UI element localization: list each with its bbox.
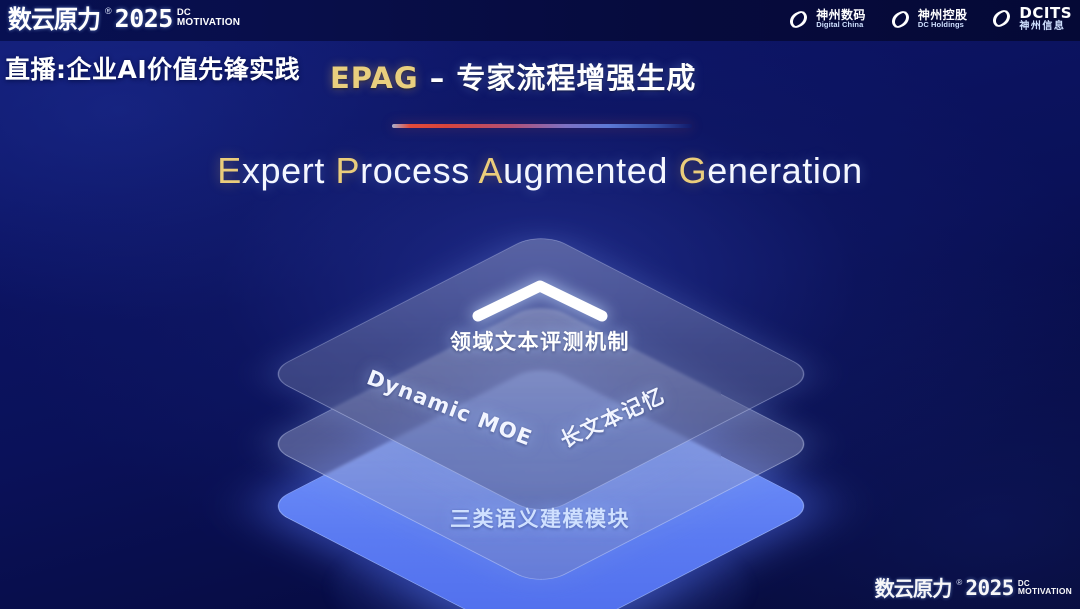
partner-logo-dc-holdings: 神州控股 DC Holdings: [888, 7, 968, 32]
subtitle-word-augmented: ugmented: [503, 150, 668, 191]
subtitle-word-generation: eneration: [707, 150, 863, 191]
subtitle-cap-p: P: [336, 150, 361, 191]
partner-logo-group: 神州数码 Digital China 神州控股 DC Holdings: [786, 4, 1072, 34]
page-title-separator: –: [419, 61, 457, 95]
brand-logo-dc-motivation: DC MOTIVATION: [177, 9, 240, 27]
subtitle-space-3: [668, 150, 679, 191]
subtitle-cap-e: E: [217, 150, 242, 191]
watermark-motivation: MOTIVATION: [1018, 588, 1072, 596]
page-title: EPAG – 专家流程增强生成: [330, 55, 696, 97]
slide-canvas: 数云原力® 2025 DC MOTIVATION 直播:企业AI价值先锋实践 神…: [0, 0, 1080, 609]
page-subtitle: Expert Process Augmented Generation: [0, 150, 1080, 192]
gradient-divider: [392, 124, 692, 128]
brand-logo-registered-mark: ®: [105, 6, 112, 16]
partner-name-en: DCITS: [1019, 6, 1072, 21]
partner-name-en: Digital China: [816, 21, 866, 29]
diagram-layer-top[interactable]: [264, 231, 818, 517]
subtitle-word-process: rocess: [360, 150, 470, 191]
diagram-label-top: 领域文本评测机制: [450, 326, 630, 356]
subtitle-word-expert: xpert: [242, 150, 325, 191]
chevron-up-icon: [468, 276, 612, 324]
layered-stack-diagram: 领域文本评测机制 Dynamic MOE 长文本记忆 三类语义建模模块: [236, 218, 844, 586]
watermark-dc-motivation: DC MOTIVATION: [1018, 580, 1072, 595]
watermark-chinese: 数云原力: [875, 573, 952, 603]
subtitle-cap-a: A: [478, 150, 503, 191]
page-title-chinese: 专家流程增强生成: [456, 61, 696, 95]
partner-logo-dcits: DCITS 神州信息: [989, 6, 1072, 31]
swirl-logo-icon: [989, 6, 1014, 31]
brand-logo: 数云原力® 2025 DC MOTIVATION: [6, 3, 240, 33]
partner-logo-digital-china: 神州数码 Digital China: [786, 7, 866, 32]
subtitle-space-1: [325, 150, 336, 191]
diagram-label-bottom: 三类语义建模模块: [450, 503, 630, 533]
watermark-year: 2025: [965, 576, 1014, 600]
partner-logo-text: 神州数码 Digital China: [816, 9, 866, 29]
watermark-registered-mark: ®: [956, 578, 962, 587]
brand-logo-chinese: 数云原力: [8, 0, 100, 36]
partner-name-en: DC Holdings: [918, 21, 968, 29]
live-stream-title: 直播:企业AI价值先锋实践: [5, 50, 300, 86]
partner-logo-text: 神州控股 DC Holdings: [918, 9, 968, 29]
swirl-logo-icon: [786, 7, 811, 32]
partner-logo-text: DCITS 神州信息: [1019, 6, 1072, 31]
corner-watermark-logo: 数云原力® 2025 DC MOTIVATION: [873, 573, 1072, 603]
brand-logo-motivation: MOTIVATION: [177, 18, 240, 27]
partner-name-cn: 神州信息: [1019, 22, 1072, 32]
brand-logo-year: 2025: [115, 4, 173, 33]
swirl-logo-icon: [888, 7, 913, 32]
subtitle-cap-g: G: [679, 150, 708, 191]
page-title-acronym: EPAG: [330, 61, 419, 95]
